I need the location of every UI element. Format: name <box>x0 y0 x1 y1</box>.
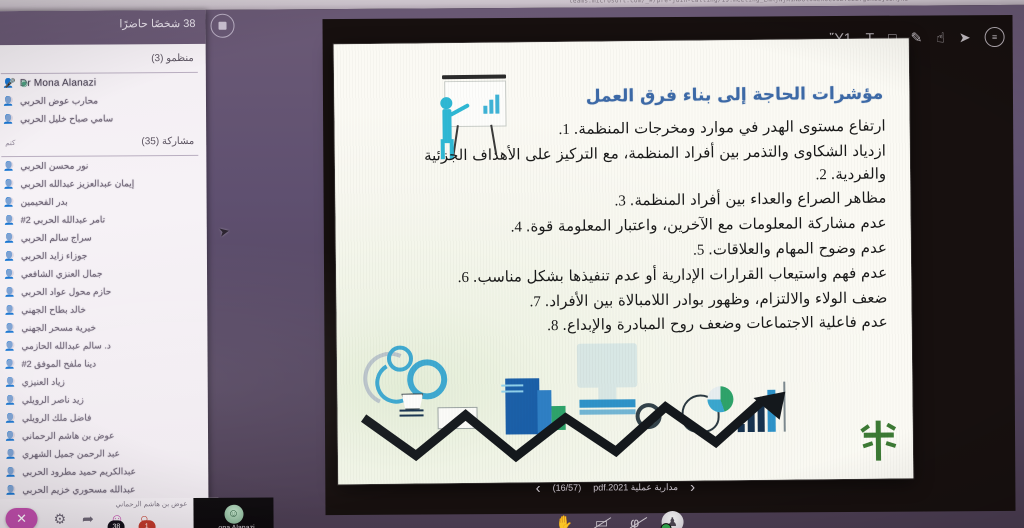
bullet-text: عدم فاعلية الاجتماعات وضعف روح المبادرة … <box>562 313 888 334</box>
list-item[interactable]: إيمان عبدالعزيز عبدالله الحربي👤 <box>1 174 198 193</box>
group-header-organizers[interactable]: منظمو (3) <box>1 52 198 74</box>
participant-name: بدر الفحيمين <box>21 196 68 207</box>
participant-name: محارب عوض الحربي <box>20 95 98 106</box>
shared-content-stage: Ὕ1 T □ ✎ ☝ ➤ ≡ <box>322 15 1015 515</box>
camera-off-icon[interactable]: ▭ <box>595 514 608 528</box>
list-item[interactable]: سامي صباح خليل الحربي 👤 <box>1 109 198 128</box>
participant-name: خيرية مسحر الجهني <box>21 322 96 333</box>
mute-indicator <box>5 179 13 187</box>
hover-tooltip: عوض بن هاشم الرحماني <box>115 500 187 508</box>
video-icon[interactable]: ◉ <box>20 78 28 89</box>
participant-controls[interactable] <box>7 431 15 439</box>
participant-name: عبدالله مسحوري خزيم الحربي <box>22 484 135 496</box>
participant-controls[interactable] <box>6 287 14 295</box>
participant-controls[interactable] <box>6 323 14 331</box>
participants-list[interactable]: منظمو (3) Dr Mona Alanazi 👤 ◉ 🎤 محارب عو… <box>0 52 208 511</box>
bullet-number: 7. <box>529 294 544 310</box>
list-item[interactable]: محارب عوض الحربي 👤 <box>1 91 198 110</box>
group-header-attendees[interactable]: مشاركة (35) كتم <box>1 135 198 157</box>
participant-name: زياد العنيزي <box>22 376 65 387</box>
slide-bullet-item: عدم فاعلية الاجتماعات وضعف روح المبادرة … <box>368 311 888 340</box>
participant-name: جمال العنزي الشافعي <box>21 268 103 279</box>
list-item[interactable]: فاضل ملك الرويلي👤 <box>3 408 200 427</box>
avatar: ☺ <box>224 504 243 523</box>
mute-indicator <box>7 485 15 493</box>
list-item[interactable]: زيد ناصر الرويلي👤 <box>3 390 200 409</box>
participant-controls[interactable] <box>5 114 13 122</box>
mute-indicator <box>6 305 14 313</box>
participant-name: زيد ناصر الرويلي <box>22 394 84 405</box>
slide-title: مؤشرات الحاجة إلى بناء فرق العمل <box>586 84 884 107</box>
hand-tool-icon[interactable]: ☝ <box>936 29 945 46</box>
mute-indicator <box>6 233 14 241</box>
bottom-left-controls: ✕ ⚙ ➦ ☺ 38 ○ 1 عوض بن هاشم الرحماني <box>0 498 219 528</box>
bullet-text: مظاهر الصراع والعداء بين أفراد المنظمة. <box>630 189 887 210</box>
participant-name: إيمان عبدالعزيز عبدالله الحربي <box>20 178 134 190</box>
list-item[interactable]: عبدالكريم حميد مطرود الحربي👤 <box>3 462 200 481</box>
participant-name: د. سالم عبدالله الحازمي <box>21 340 110 352</box>
participant-controls[interactable] <box>6 233 14 241</box>
participant-name: عبد الرحمن جميل الشهري <box>22 448 120 460</box>
more-menu-icon[interactable]: ≡ <box>985 27 1005 47</box>
mute-indicator <box>5 161 13 169</box>
pen-tool-icon[interactable]: ✎ <box>911 29 923 46</box>
list-item[interactable]: جمال العنزي الشافعي👤 <box>2 264 199 283</box>
participant-name: فاضل ملك الرويلي <box>22 412 92 423</box>
participant-name: سامي صباح خليل الحربي <box>20 113 113 125</box>
close-button[interactable]: ✕ <box>5 508 37 528</box>
participant-controls[interactable]: ◉ 🎤 <box>5 78 28 89</box>
bullet-text: عدم فهم واستيعاب القرارات الإدارية أو عد… <box>473 263 888 285</box>
bullet-number: 3. <box>615 194 630 210</box>
mute-indicator <box>6 341 14 349</box>
list-item[interactable]: بدر الفحيمين👤 <box>2 192 199 211</box>
mute-indicator <box>7 377 15 385</box>
online-status-badge <box>660 523 671 528</box>
mouse-cursor: ➤ <box>217 223 231 241</box>
self-name-label: ...ona Alanazi <box>213 524 255 528</box>
mute-indicator <box>7 449 15 457</box>
presentation-slide[interactable]: مؤشرات الحاجة إلى بناء فرق العمل ارتفاع … <box>334 38 914 484</box>
list-item[interactable]: سراج سالم الحربي👤 <box>2 228 199 247</box>
bullet-text: عدم مشاركة المعلومات مع الآخرين، واعتبار… <box>526 214 887 236</box>
mute-indicator <box>7 413 15 421</box>
participant-name: تامر عبدالله الحربي 2# <box>21 214 106 226</box>
mic-off-icon[interactable]: φ <box>630 514 639 528</box>
green-organization-logo <box>859 418 899 462</box>
participant-name: عبدالكريم حميد مطرود الحربي <box>22 466 136 478</box>
mute-indicator <box>7 359 15 367</box>
gear-icon[interactable]: ⚙ <box>53 510 66 527</box>
list-item[interactable]: Dr Mona Alanazi 👤 ◉ 🎤 <box>1 73 198 92</box>
mute-indicator <box>6 269 14 277</box>
meeting-app: 38 شخصًا حاضرًا منظمو (3) Dr Mona Alanaz… <box>0 5 1024 528</box>
list-item[interactable]: جوزاء زايد الحربي👤 <box>2 246 199 265</box>
share-icon[interactable]: ➦ <box>82 510 94 527</box>
participant-controls[interactable] <box>7 413 15 421</box>
laser-pointer-icon[interactable]: ➤ <box>959 29 971 46</box>
participant-controls[interactable] <box>7 377 15 385</box>
chat-icon[interactable]: ○ 1 <box>140 510 149 526</box>
participant-controls[interactable] <box>6 305 14 313</box>
self-avatar[interactable]: ♟ <box>661 511 683 528</box>
mute-indicator <box>6 323 14 331</box>
slide-navigation[interactable]: ‹ (16/57) مداربة عملية pdf.2021 › <box>525 477 705 498</box>
people-icon[interactable]: ☺ 38 <box>110 510 124 526</box>
mute-all-button[interactable]: كتم <box>5 139 15 147</box>
participant-controls[interactable] <box>7 467 15 475</box>
mute-indicator <box>7 395 15 403</box>
list-item[interactable]: د. سالم عبدالله الحازمي👤 <box>2 336 199 355</box>
participant-controls[interactable] <box>6 215 14 223</box>
bullet-text: عدم وضوح المهام والعلاقات. <box>708 239 887 259</box>
self-video-tile[interactable]: ☺ ...ona Alanazi <box>193 497 273 528</box>
list-item[interactable]: خالد بطاح الجهني👤 <box>2 300 199 319</box>
participant-name: حازم محول عواد الحربي <box>21 286 111 298</box>
mute-indicator <box>5 96 13 104</box>
list-item[interactable]: عوض بن هاشم الرحماني👤 <box>3 426 200 445</box>
mute-indicator <box>7 467 15 475</box>
bullet-number: 4. <box>511 220 526 236</box>
bullet-text: ارتفاع مستوى الهدر في موارد ومخرجات المن… <box>574 117 886 138</box>
participant-controls[interactable] <box>6 269 14 277</box>
participant-name: Dr Mona Alanazi <box>20 77 96 88</box>
participant-controls[interactable] <box>7 395 15 403</box>
shared-file-name: مداربة عملية pdf.2021 <box>593 481 678 493</box>
screen-photo: teams.microsoft.com/_#/pre-join-calling/… <box>0 0 1024 528</box>
prev-slide-button[interactable]: ‹ <box>536 479 541 496</box>
browser-toolbar-icons[interactable]: ■ ↻ + <box>952 0 1000 2</box>
attendee-count-label: 38 شخصًا حاضرًا <box>119 17 195 30</box>
bullet-number: 8. <box>547 318 562 334</box>
list-item[interactable]: تامر عبدالله الحربي 2#👤 <box>2 210 199 229</box>
participant-name: نور محسن الحربي <box>20 160 88 171</box>
list-item[interactable]: عبد الرحمن جميل الشهري👤 <box>3 444 200 463</box>
participant-controls[interactable] <box>5 161 13 169</box>
bottom-right-controls[interactable]: ✋ ▭ φ ♟ <box>556 511 684 528</box>
chat-badge: 1 <box>138 520 155 528</box>
monitor-screen: teams.microsoft.com/_#/pre-join-calling/… <box>0 0 1024 528</box>
mute-indicator <box>6 251 14 259</box>
slide-page-indicator: (16/57) <box>553 483 582 493</box>
business-process-infographic <box>345 340 906 478</box>
list-item[interactable]: حازم محول عواد الحربي👤 <box>2 282 199 301</box>
bullet-number: 2. <box>815 167 830 183</box>
record-icon[interactable] <box>210 14 234 38</box>
raise-hand-icon[interactable]: ✋ <box>556 514 574 528</box>
bullet-text: ضعف الولاء والالتزام، وظهور بوادر اللامب… <box>544 288 887 310</box>
mic-icon[interactable]: 🎤 <box>5 78 16 89</box>
participant-controls[interactable] <box>7 449 15 457</box>
participant-controls[interactable] <box>7 485 15 493</box>
mute-indicator <box>6 287 14 295</box>
participant-name: عوض بن هاشم الرحماني <box>22 430 115 442</box>
list-item[interactable]: دينا ملفح الموفق 2#👤 <box>3 354 200 373</box>
participant-name: جوزاء زايد الحربي <box>21 250 87 261</box>
group-label: منظمو (3) <box>151 53 194 64</box>
participant-controls[interactable] <box>6 197 14 205</box>
participants-header: 38 شخصًا حاضرًا <box>0 10 206 45</box>
participants-panel: 38 شخصًا حاضرًا منظمو (3) Dr Mona Alanaz… <box>0 10 208 511</box>
slide-bullet-list: ارتفاع مستوى الهدر في موارد ومخرجات المن… <box>365 115 887 342</box>
bullet-number: 1. <box>559 122 574 138</box>
bullet-number: 5. <box>693 242 708 258</box>
group-label: مشاركة (35) <box>141 136 194 147</box>
bullet-number: 6. <box>458 270 473 286</box>
mute-indicator <box>5 114 13 122</box>
people-badge: 38 <box>108 520 125 528</box>
participant-controls[interactable] <box>6 341 14 349</box>
mute-indicator <box>7 431 15 439</box>
zigzag-arrow-icon <box>355 392 796 467</box>
participant-name: خالد بطاح الجهني <box>21 304 86 315</box>
list-item[interactable]: خيرية مسحر الجهني👤 <box>2 318 199 337</box>
participant-controls[interactable] <box>5 96 13 104</box>
bottom-app-bar: ✕ ⚙ ➦ ☺ 38 ○ 1 عوض بن هاشم الرحماني ☺ . <box>0 499 1024 528</box>
mute-indicator <box>6 215 14 223</box>
list-item[interactable]: زياد العنيزي👤 <box>3 372 200 391</box>
participant-name: سراج سالم الحربي <box>21 232 92 243</box>
participant-name: دينا ملفح الموفق 2# <box>22 358 97 369</box>
attendee-rows[interactable]: نور محسن الحربي👤إيمان عبدالعزيز عبدالله … <box>1 156 200 511</box>
list-item[interactable]: عبدالله مسحوري خزيم الحربي👤 <box>3 480 200 499</box>
participant-controls[interactable] <box>7 359 15 367</box>
slide-bullet-item: ازدياد الشكاوى والتذمر بين أفراد المنظمة… <box>366 139 886 191</box>
mute-indicator <box>6 197 14 205</box>
participant-controls[interactable] <box>6 251 14 259</box>
list-item[interactable]: نور محسن الحربي👤 <box>1 156 198 175</box>
participant-controls[interactable] <box>5 179 13 187</box>
next-slide-button[interactable]: › <box>690 478 695 495</box>
